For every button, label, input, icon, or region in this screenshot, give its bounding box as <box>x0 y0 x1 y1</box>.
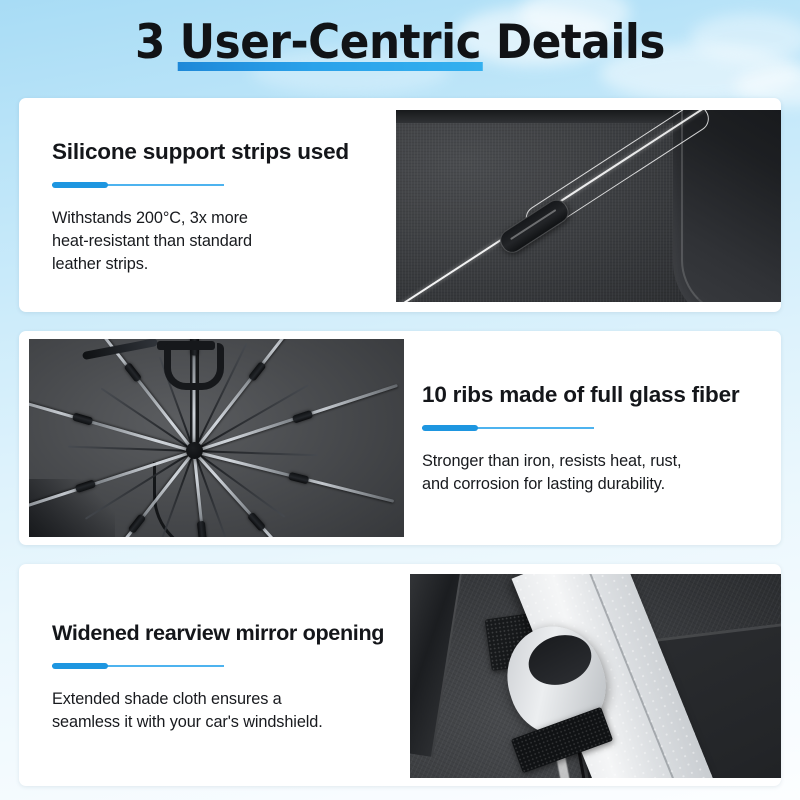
page-title-prefix: 3 <box>135 15 180 70</box>
feature-card-3[interactable]: Widened rearview mirror opening Extended… <box>19 564 781 786</box>
feature-card-1-text: Silicone support strips used Withstands … <box>19 98 396 312</box>
feature-card-3-text: Widened rearview mirror opening Extended… <box>19 564 410 786</box>
body-line: leather strips. <box>52 253 378 276</box>
umbrella-rib <box>194 384 398 453</box>
feature-card-3-heading: Widened rearview mirror opening <box>52 619 392 647</box>
umbrella-handle <box>164 343 224 390</box>
umbrella-rib-frame-photo <box>29 339 404 537</box>
feature-card-3-body: Extended shade cloth ensures a seamless … <box>52 688 392 734</box>
page-title-underlined: User-Centric <box>180 14 481 72</box>
body-line: and corrosion for lasting durability. <box>422 473 771 496</box>
feature-card-3-divider <box>52 663 224 669</box>
feature-card-1-divider <box>52 182 224 188</box>
body-line: seamless it with your car's windshield. <box>52 711 392 734</box>
umbrella-hub <box>186 442 203 459</box>
feature-card-2-heading: 10 ribs made of full glass fiber <box>422 381 771 409</box>
page-title-suffix: Details <box>481 15 665 70</box>
body-line: Withstands 200°C, 3x more <box>52 207 378 230</box>
feature-card-2-text: 10 ribs made of full glass fiber Stronge… <box>404 331 781 545</box>
product-feature-infographic: 3 User-Centric Details Silicone support … <box>0 0 800 800</box>
body-line: heat-resistant than standard <box>52 230 378 253</box>
mirror-opening-photo <box>410 574 781 778</box>
body-line: Extended shade cloth ensures a <box>52 688 392 711</box>
sunshade-corner-photo <box>396 110 781 302</box>
feature-card-1[interactable]: Silicone support strips used Withstands … <box>19 98 781 312</box>
feature-card-1-image <box>396 110 781 302</box>
divider-accent-segment <box>52 182 108 188</box>
feature-card-2[interactable]: 10 ribs made of full glass fiber Stronge… <box>19 331 781 545</box>
divider-accent-segment <box>422 425 478 431</box>
umbrella-stretcher <box>101 387 195 451</box>
page-title: 3 User-Centric Details <box>135 14 665 72</box>
feature-card-2-body: Stronger than iron, resists heat, rust, … <box>422 450 771 496</box>
feature-card-3-image <box>410 574 781 778</box>
sunshade-corner-highlight <box>681 110 781 302</box>
page-title-container: 3 User-Centric Details <box>0 14 800 72</box>
divider-accent-segment <box>52 663 108 669</box>
body-line: Stronger than iron, resists heat, rust, <box>422 450 771 473</box>
feature-card-1-heading: Silicone support strips used <box>52 138 378 166</box>
feature-card-1-body: Withstands 200°C, 3x more heat-resistant… <box>52 207 378 276</box>
feature-card-2-image <box>29 339 404 537</box>
feature-card-2-divider <box>422 425 594 431</box>
